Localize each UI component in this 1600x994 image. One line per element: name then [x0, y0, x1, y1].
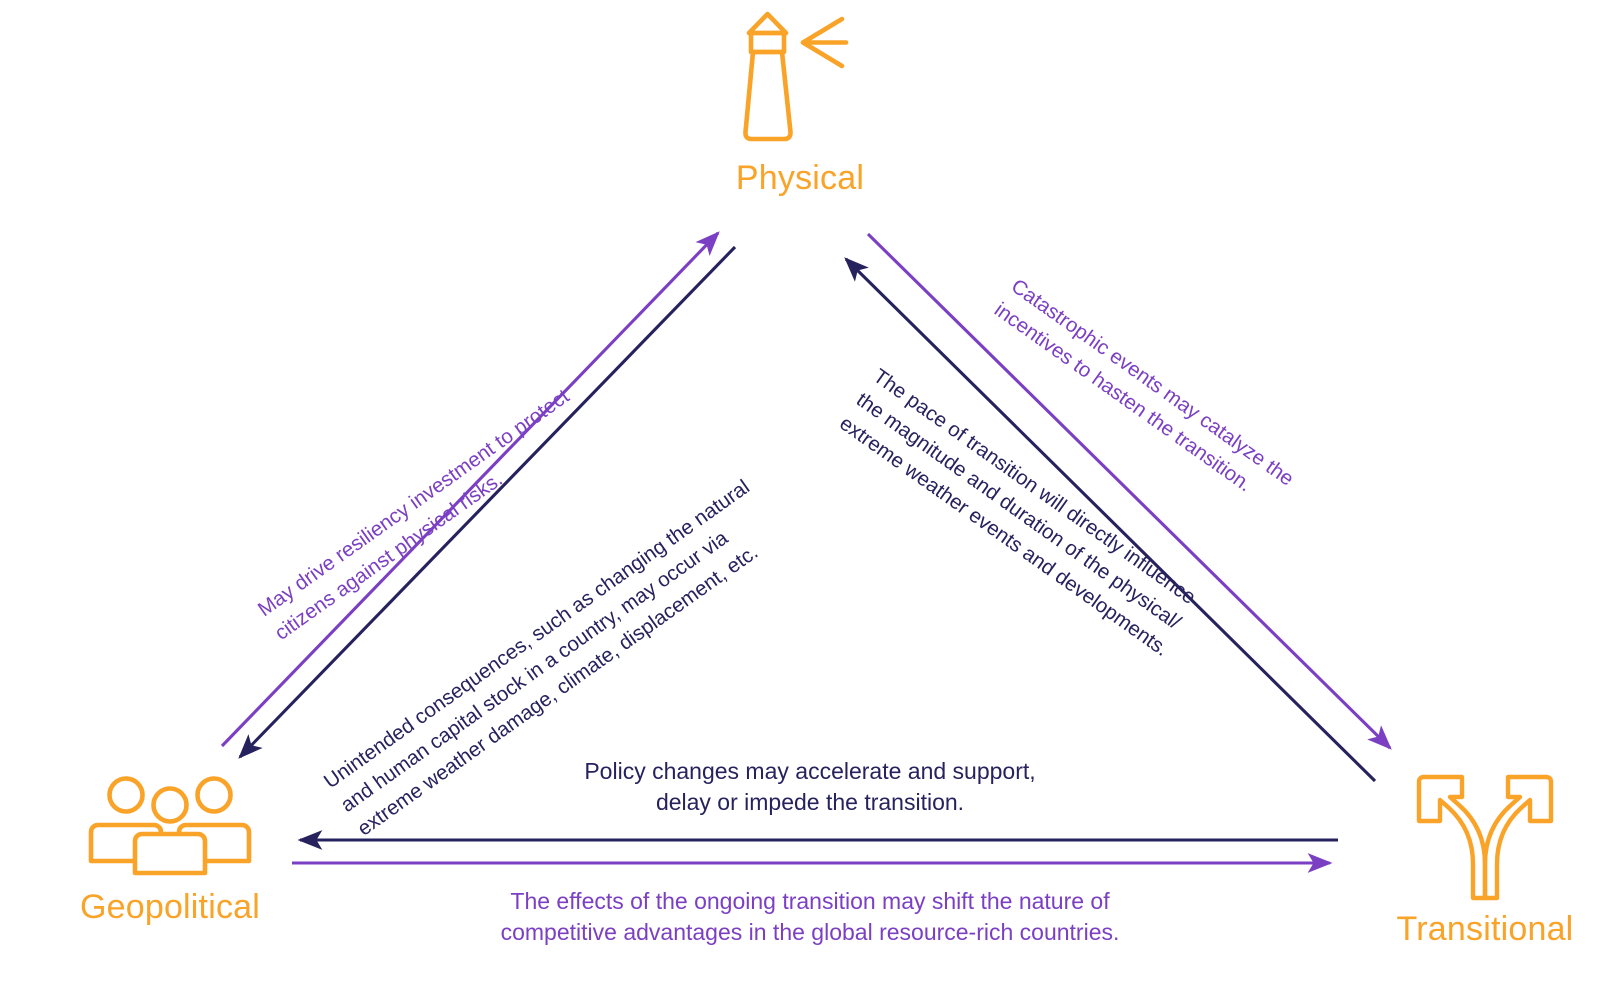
lighthouse-icon — [660, 8, 940, 153]
node-physical-label: Physical — [660, 159, 940, 198]
node-transitional[interactable]: Transitional — [1355, 772, 1600, 949]
forked-arrow-icon — [1355, 772, 1600, 904]
node-physical[interactable]: Physical — [660, 8, 940, 198]
edge-label-geopolitical-to-transitional: The effects of the ongoing transition ma… — [440, 886, 1180, 947]
diagram-canvas: Physical Geopolitical Tra — [0, 0, 1600, 994]
node-geopolitical-label: Geopolitical — [20, 888, 320, 927]
node-geopolitical[interactable]: Geopolitical — [20, 772, 320, 927]
node-transitional-label: Transitional — [1355, 910, 1600, 949]
edge-label-transitional-to-geopolitical: Policy changes may accelerate and suppor… — [500, 756, 1120, 817]
three-people-icon — [20, 772, 320, 882]
